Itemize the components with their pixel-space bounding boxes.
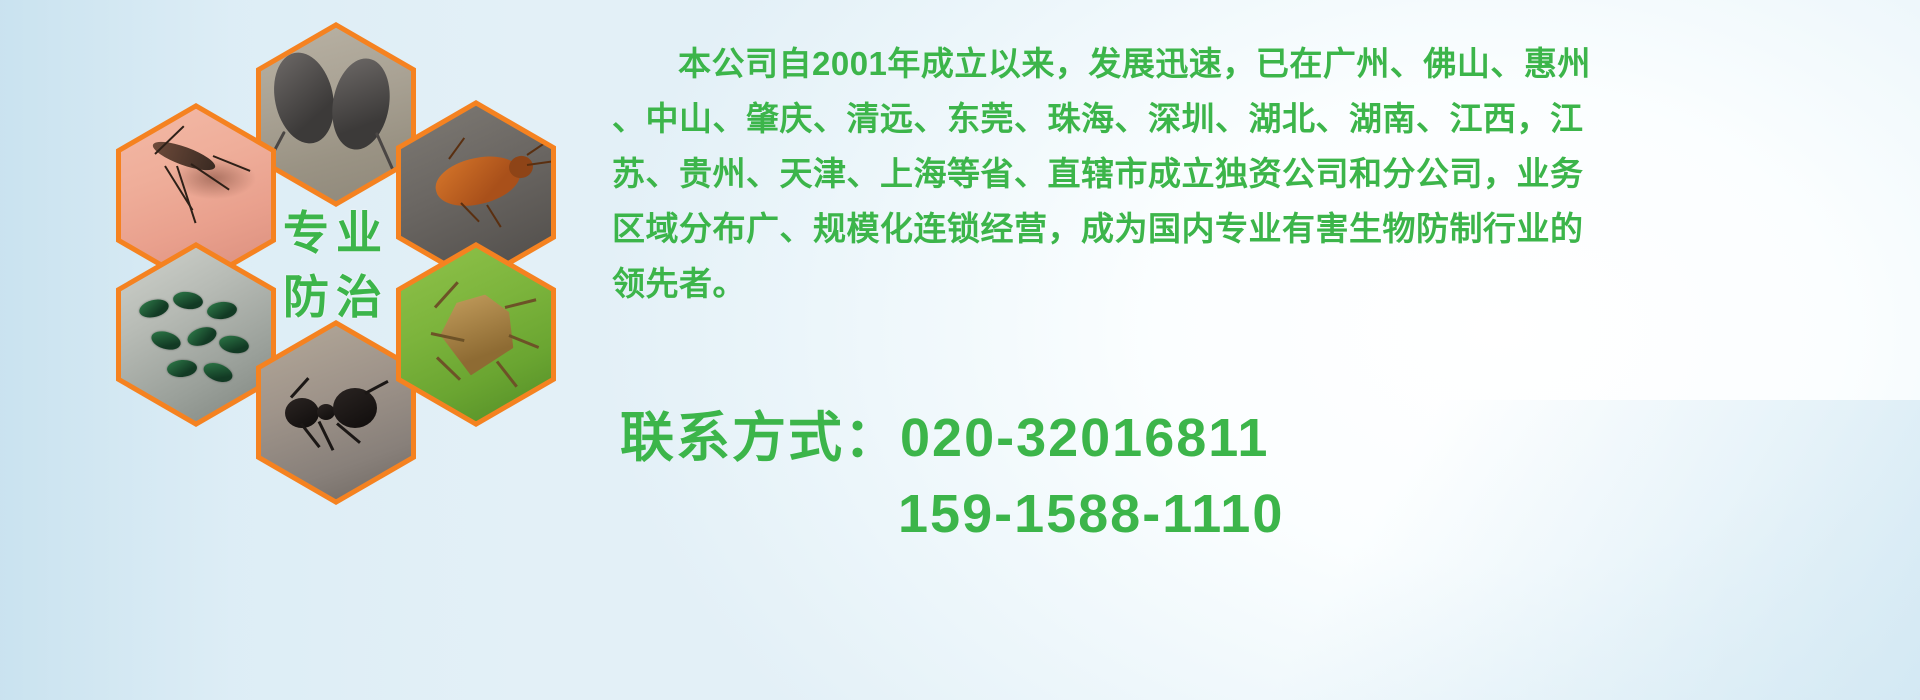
- contact-phone-1[interactable]: 020-32016811: [900, 408, 1269, 468]
- honeycomb-label-line-1: 专业: [283, 202, 389, 265]
- contact-line-primary: 联系方式：020-32016811: [620, 400, 1900, 476]
- intro-line-5: 领先者。: [612, 256, 1880, 311]
- hex-photo-rats: [261, 28, 411, 201]
- hex-photo-ant: [261, 326, 411, 499]
- intro-line-2: 、中山、肇庆、清远、东莞、珠海、深圳、湖北、湖南、江西，江: [612, 91, 1880, 146]
- honeycomb-cluster: 专业 防治: [78, 8, 598, 568]
- hex-cell-rats[interactable]: [256, 22, 416, 207]
- company-intro-paragraph: 本公司自2001年成立以来，发展迅速，已在广州、佛山、惠州 、中山、肇庆、清远、…: [612, 36, 1880, 311]
- honeycomb-center-label: 专业 防治: [228, 183, 444, 348]
- banner-canvas: 专业 防治 本公司自2001年成立以来，发展迅速，已在广州、佛山、惠州 、中山、…: [0, 0, 1920, 700]
- contact-phone-2[interactable]: 159-1588-1110: [620, 476, 1900, 552]
- contact-block: 联系方式：020-32016811 159-1588-1110: [620, 400, 1900, 552]
- intro-line-3: 苏、贵州、天津、上海等省、直辖市成立独资公司和分公司，业务: [612, 146, 1880, 201]
- intro-line-4: 区域分布广、规模化连锁经营，成为国内专业有害生物防制行业的: [612, 201, 1880, 256]
- intro-line-1: 本公司自2001年成立以来，发展迅速，已在广州、佛山、惠州: [612, 36, 1880, 91]
- honeycomb-label-line-2: 防治: [283, 266, 389, 329]
- contact-label: 联系方式：: [620, 408, 900, 468]
